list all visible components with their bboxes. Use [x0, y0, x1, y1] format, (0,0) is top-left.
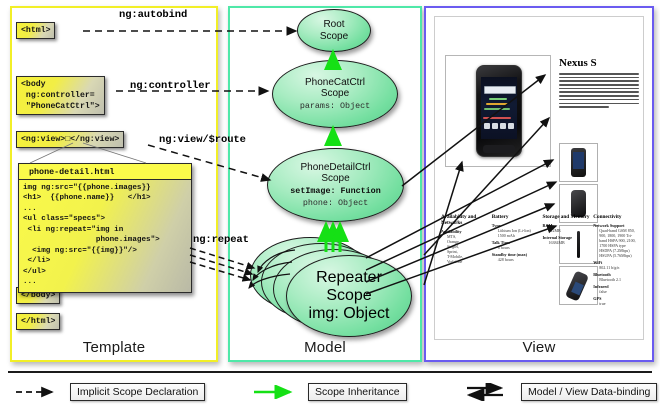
scope-property: params: Object — [300, 101, 370, 111]
scope-title-line1: Root — [323, 19, 344, 30]
edge-label-controller: ng:controller — [130, 80, 211, 92]
scope-node-repeater: Repeater Scope img: Object — [286, 255, 412, 337]
legend-label: Scope Inheritance — [308, 383, 407, 401]
scope-title-line2: Scope — [320, 31, 348, 42]
phone-nav-bar — [483, 145, 515, 153]
scope-node-phonedetailctrl: PhoneDetailCtrl Scope setImage: Function… — [267, 148, 404, 222]
spec-column: Storage and Memory RAM 512MB Internal St… — [543, 215, 591, 306]
spec-values: Lithium Ion (Li-Ion)1500 mAh — [492, 228, 540, 238]
spec-column: Availability and Networks Availability M… — [441, 215, 489, 306]
app-icon — [508, 123, 514, 129]
spec-values: 428 hours — [492, 257, 540, 262]
scope-title-line1: Repeater — [316, 269, 382, 287]
legend-label: Model / View Data-binding — [521, 383, 657, 401]
spec-heading: Connectivity — [593, 215, 641, 221]
screen-widget-red — [483, 117, 511, 119]
spec-values: 512MB — [543, 228, 591, 233]
scope-title-line1: PhoneCatCtrl — [305, 77, 365, 88]
panel-model-label: Model — [230, 339, 420, 356]
scope-property: img: Object — [309, 305, 390, 323]
legend-divider — [8, 371, 652, 373]
app-icon — [492, 123, 498, 129]
hero-phone-image — [445, 55, 551, 167]
scope-property: setImage: Function — [290, 186, 380, 196]
spec-table: Availability and Networks Availability M… — [441, 215, 641, 306]
spec-values: false — [593, 289, 641, 294]
screen-widget-orange — [486, 103, 508, 105]
screen-app-icons — [484, 123, 514, 129]
view-rendered-page: Nexus S Availability and Networks — [434, 16, 644, 340]
spec-heading: Battery — [492, 215, 540, 221]
scope-title-line2: Scope — [326, 287, 371, 305]
spec-column: Battery Type Lithium Ion (Li-Ion)1500 mA… — [492, 215, 540, 306]
edge-label-ngrepeat: ng:repeat — [193, 234, 249, 246]
partial-template-filename: phone-detail.html — [18, 163, 192, 179]
legend-solid-green-arrow-icon — [252, 385, 300, 399]
code-tag-html-open: <html> — [16, 22, 55, 39]
scope-title-line1: PhoneDetailCtrl — [300, 162, 370, 173]
code-tag-body-open: <body ng:controller= "PhoneCatCtrl"> — [16, 76, 105, 115]
scope-title-line2: Scope — [321, 173, 349, 184]
legend-label: Implicit Scope Declaration — [70, 383, 205, 401]
spec-column: Connectivity Network Support Quad-band G… — [593, 215, 641, 306]
product-description-text — [559, 73, 639, 110]
spec-heading: Availability and Networks — [441, 215, 489, 227]
partial-template-code: img ng:src="{{phone.images}} <h1> {{phon… — [18, 179, 192, 293]
spec-values: true — [593, 301, 641, 306]
legend-double-arrow-icon — [465, 383, 513, 401]
spec-heading: Storage and Memory — [543, 215, 591, 221]
phone-screen — [481, 77, 517, 139]
screen-widget-green2 — [484, 108, 510, 110]
spec-values: 6 hours — [492, 245, 540, 250]
thumbnail-front[interactable] — [559, 143, 598, 182]
partial-template-note: phone-detail.html img ng:src="{{phone.im… — [18, 163, 192, 293]
scope-property: phone: Object — [303, 198, 368, 208]
product-title: Nexus S — [559, 57, 597, 69]
phone-illustration — [476, 65, 522, 157]
app-icon — [500, 123, 506, 129]
spec-values: 16384MB — [543, 240, 591, 245]
scope-title-line2: Scope — [321, 88, 349, 99]
spec-values: MTS,Orange,Sizgtel,Sprint,T-Mobile,Vodaf… — [441, 234, 489, 264]
panel-template-label: Template — [12, 339, 216, 356]
scope-node-root: Root Scope — [297, 9, 371, 52]
code-tag-ngview: <ng:view>□</ng:view> — [16, 131, 124, 148]
scope-node-repeater-stack: Repeater Scope img: Object — [250, 233, 410, 339]
edge-label-autobind: ng:autobind — [119, 9, 187, 21]
screen-search-bar — [484, 86, 516, 94]
code-tag-html-close: </html> — [16, 313, 60, 330]
screen-widget-green — [489, 98, 507, 100]
app-icon — [484, 123, 490, 129]
spec-values: Quad-band GSM 850,900, 1800, 1900 Tri-ba… — [593, 228, 641, 258]
edge-label-ngview-route: ng:view/$route — [159, 134, 246, 146]
spec-values: Bluetooth 2.1 — [593, 277, 641, 282]
scope-node-phonecatctrl: PhoneCatCtrl Scope params: Object — [272, 60, 398, 128]
legend-item-scope-inheritance: Scope Inheritance — [252, 383, 407, 401]
spec-values: 802.11 b/g/n — [593, 265, 641, 270]
panel-view-label: View — [426, 339, 652, 356]
legend-item-implicit-scope-declaration: Implicit Scope Declaration — [14, 383, 205, 401]
legend-dashed-arrow-icon — [14, 385, 62, 399]
diagram-canvas: Template Model View <html> <body ng:cont… — [0, 0, 660, 420]
legend-item-model-view-data-binding: Model / View Data-binding — [465, 383, 657, 401]
